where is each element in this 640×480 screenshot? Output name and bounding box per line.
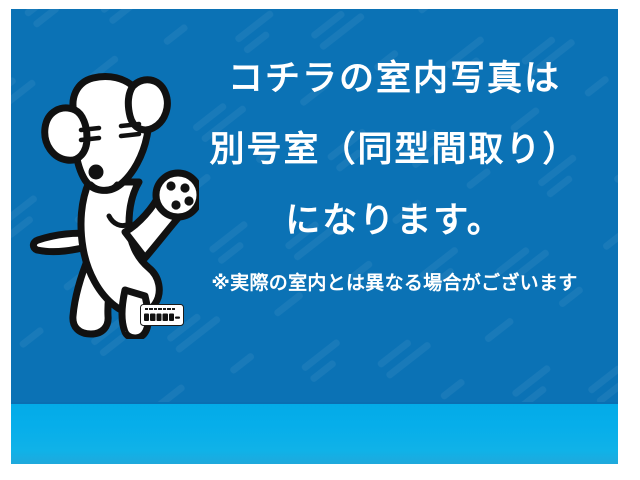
screenshot-root: コチラの室内写真は 別号室（同型間取り） になります。 ※実際の室内とは異なる場… bbox=[0, 0, 640, 480]
notice-headline-line-1: コチラの室内写真は bbox=[171, 61, 618, 96]
notice-headline-line-2: 別号室（同型間取り） bbox=[171, 132, 618, 167]
panel-bottom-band bbox=[11, 404, 618, 464]
placeholder-image-panel: コチラの室内写真は 別号室（同型間取り） になります。 ※実際の室内とは異なる場… bbox=[11, 9, 618, 464]
sagasshi-logo-badge bbox=[140, 304, 184, 326]
notice-headline-line-3: になります。 bbox=[171, 203, 618, 238]
notice-disclaimer: ※実際の室内とは異なる場合がございます bbox=[171, 274, 618, 293]
notice-text-block: コチラの室内写真は 別号室（同型間取り） になります。 ※実際の室内とは異なる場… bbox=[171, 61, 618, 293]
